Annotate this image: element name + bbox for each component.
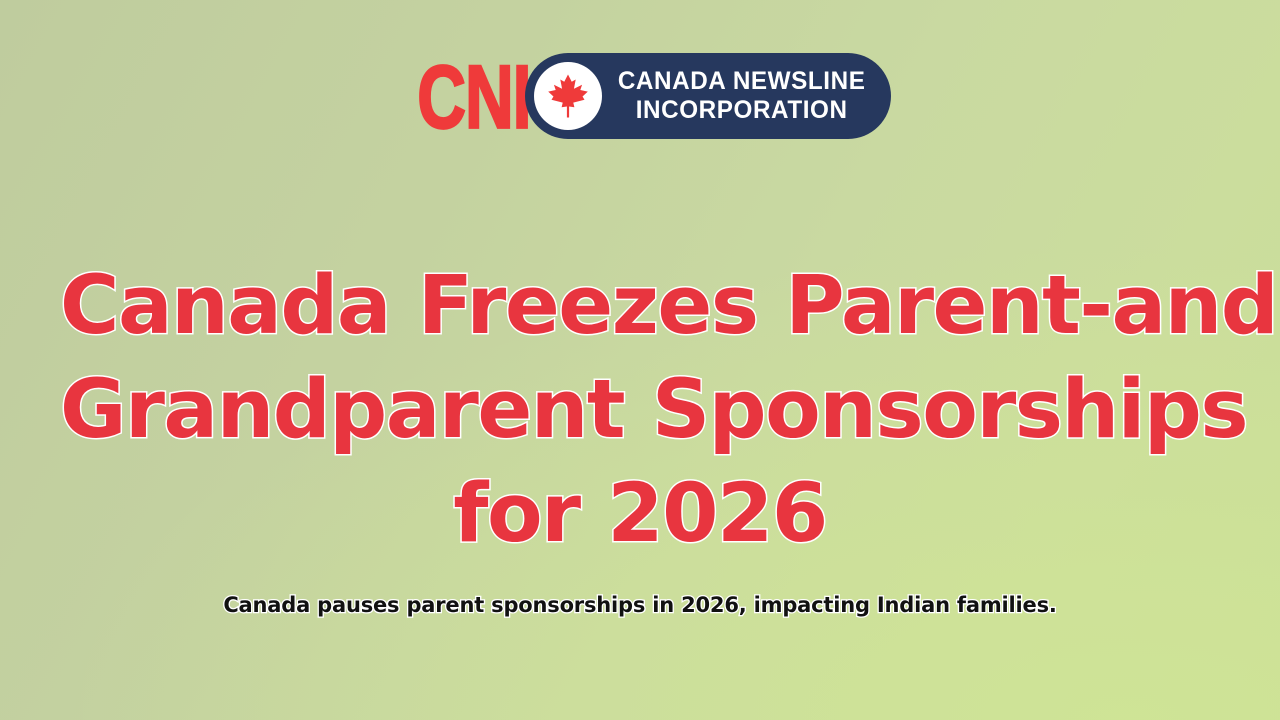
- news-graphic-poster: CNI CANADA NEWSLINE INCORPORATION Canada…: [0, 0, 1280, 720]
- cni-monogram: CNI: [417, 52, 530, 141]
- brand-name-text: CANADA NEWSLINE INCORPORATION: [614, 67, 869, 125]
- subtitle: Canada pauses parent sponsorships in 202…: [40, 591, 1240, 619]
- headline-line-1: Canada Freezes Parent-and-: [60, 254, 1220, 358]
- brand-name-line-2: INCORPORATION: [618, 96, 866, 125]
- brand-logo[interactable]: CNI CANADA NEWSLINE INCORPORATION: [0, 40, 1280, 152]
- headline-line-2: Grandparent Sponsorships: [60, 358, 1220, 462]
- brand-name-line-1: CANADA NEWSLINE: [618, 67, 866, 96]
- maple-leaf-badge: [534, 62, 602, 130]
- brand-name-pill: CANADA NEWSLINE INCORPORATION: [525, 53, 891, 139]
- brand-logo-inner: CNI CANADA NEWSLINE INCORPORATION: [389, 40, 891, 152]
- headline: Canada Freezes Parent-and- Grandparent S…: [60, 254, 1220, 566]
- maple-leaf-icon: [546, 73, 590, 119]
- headline-line-3: for 2026: [60, 462, 1220, 566]
